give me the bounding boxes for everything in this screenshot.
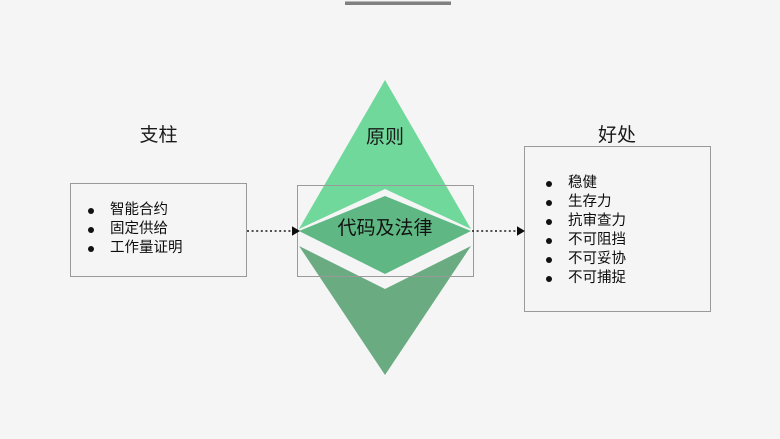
principles-center-label: 代码及法律 — [305, 219, 465, 238]
benefits-list: 稳健 生存力 抗审查力 不可阻挡 不可妥协 不可捕捉 — [530, 174, 626, 288]
list-item: 工作量证明 — [72, 239, 183, 258]
list-item: 抗审查力 — [530, 212, 626, 231]
list-item: 不可捕捉 — [530, 269, 626, 288]
list-item: 不可阻挡 — [530, 231, 626, 250]
list-item: 生存力 — [530, 193, 626, 212]
clipped-divider — [345, 1, 451, 5]
list-item: 稳健 — [530, 174, 626, 193]
list-item: 不可妥协 — [530, 250, 626, 269]
diagram-canvas: 支柱 智能合约 固定供给 工作量证明 原则 代码及法律 好处 稳健 生存力 抗审… — [0, 0, 780, 439]
pillars-column-title: 支柱 — [92, 126, 225, 145]
benefits-column-title: 好处 — [552, 126, 682, 145]
arrow-principles-to-benefits — [472, 225, 526, 237]
arrow-pillars-to-principles — [247, 225, 301, 237]
list-item: 智能合约 — [72, 201, 183, 220]
list-item: 固定供给 — [72, 220, 183, 239]
pillars-list: 智能合约 固定供给 工作量证明 — [72, 201, 183, 258]
principles-column-title: 原则 — [320, 128, 450, 147]
